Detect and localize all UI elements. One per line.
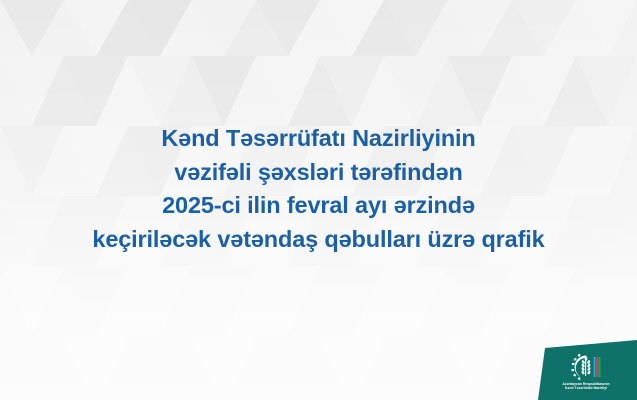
logo-caption: Azərbaycan Respublikasının Kənd Təsərrüf… (562, 382, 609, 391)
headline-line-3: 2025-ci ilin fevral ayı ərzində (18, 189, 619, 223)
headline-line-4: keçiriləcək vətəndaş qəbulları üzrə qraf… (18, 223, 619, 257)
headline-line-1: Kənd Təsərrüfatı Nazirliyinin (18, 122, 619, 156)
logo-content: Azərbaycan Respublikasının Kənd Təsərrüf… (548, 350, 624, 398)
wheat-gear-emblem (571, 354, 601, 380)
announcement-banner: Kənd Təsərrüfatı Nazirliyinin vəzifəli ş… (0, 0, 637, 400)
ministry-logo: Azərbaycan Respublikasının Kənd Təsərrüf… (536, 340, 637, 400)
flag-stripe-red (596, 357, 598, 377)
flag-stripe-green (599, 357, 601, 377)
headline-line-2: vəzifəli şəxsləri tərəfindən (18, 156, 619, 190)
flag-stripe-blue (594, 357, 596, 377)
page-title: Kənd Təsərrüfatı Nazirliyinin vəzifəli ş… (0, 122, 637, 256)
logo-caption-line-2: Kənd Təsərrüfatı Nazirliyi (562, 386, 609, 390)
